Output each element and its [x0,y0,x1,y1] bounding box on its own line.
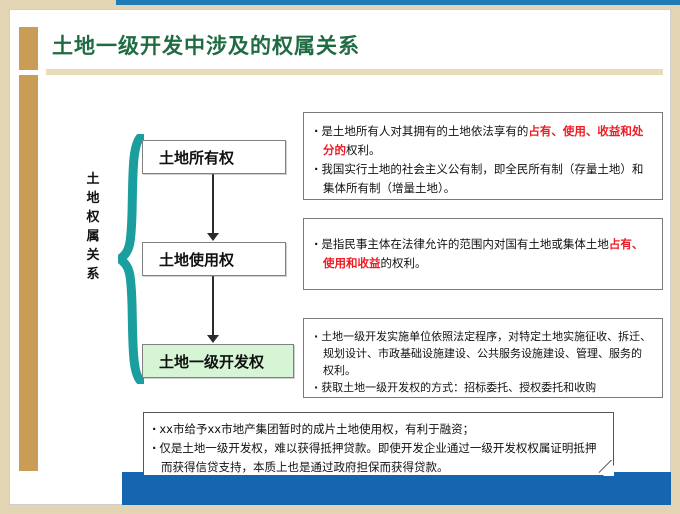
vertical-label-char-2: 权 [82,208,104,227]
body-text: 是指民事主体在法律允许的范围内对国有土地或集体土地 [321,237,609,251]
note-text: 仅是土地一级开发权，难以获得抵押贷款。即使开发企业通过一级开发权权属证明抵押而获… [159,441,596,474]
body-text: 土地一级开发实施单位依照法定程序，对特定土地实施征收、拆迁、规划设计、市政基础设… [321,330,651,377]
body-text: 我国实行土地的社会主义公有制，即全民所有制（存量土地）和集体所有制（增量土地）。 [321,162,643,195]
body-text: 权利。 [346,143,381,157]
description-box-development-right: 土地一级开发实施单位依照法定程序，对特定土地实施征收、拆迁、规划设计、市政基础设… [303,318,663,398]
description-line: 是土地所有人对其拥有的土地依法享有的占有、使用、收益和处分的权利。 [314,122,652,160]
slide-canvas: 土地一级开发中涉及的权属关系 土地权属关系 土地所有权 土地使用权 土地一级开发… [0,0,680,514]
arrow-head-icon-2 [207,335,219,343]
note-text: xx市给予xx市地产集团暂时的成片土地使用权，有利于融资； [159,422,474,436]
title-underline-rule [46,69,663,75]
vertical-category-label: 土地权属关系 [82,170,104,284]
gold-accent-bar-top [19,27,38,70]
vertical-label-char-5: 系 [82,265,104,284]
flow-box-primary-development-right[interactable]: 土地一级开发权 [142,344,294,378]
vertical-label-char-0: 土 [82,170,104,189]
connector-line-1 [212,174,214,234]
description-line: 我国实行土地的社会主义公有制，即全民所有制（存量土地）和集体所有制（增量土地）。 [314,160,652,198]
bottom-note-box: xx市给予xx市地产集团暂时的成片土地使用权，有利于融资；仅是土地一级开发权，难… [143,412,614,476]
body-text: 是土地所有人对其拥有的土地依法享有的 [321,124,528,138]
vertical-label-char-4: 关 [82,246,104,265]
arrow-head-icon-1 [207,233,219,241]
description-line: 是指民事主体在法律允许的范围内对国有土地或集体土地占有、使用和收益的权利。 [314,235,652,273]
gold-accent-bar-body [19,75,38,471]
teal-brace-icon [118,134,144,384]
flow-box-land-ownership[interactable]: 土地所有权 [142,140,286,174]
note-line: 仅是土地一级开发权，难以获得抵押贷款。即使开发企业通过一级开发权权属证明抵押而获… [152,439,605,477]
vertical-label-char-1: 地 [82,189,104,208]
description-box-ownership: 是土地所有人对其拥有的土地依法享有的占有、使用、收益和处分的权利。我国实行土地的… [303,112,663,200]
body-text: 获取土地一级开发权的方式：招标委托、授权委托和收购 [321,381,596,394]
body-text: 的权利。 [381,256,427,270]
vertical-label-char-3: 属 [82,227,104,246]
description-line: 获取土地一级开发权的方式：招标委托、授权委托和收购 [314,379,652,396]
description-line: 土地一级开发实施单位依照法定程序，对特定土地实施征收、拆迁、规划设计、市政基础设… [314,328,652,379]
note-line: xx市给予xx市地产集团暂时的成片土地使用权，有利于融资； [152,420,605,439]
description-box-use-right: 是指民事主体在法律允许的范围内对国有土地或集体土地占有、使用和收益的权利。 [303,218,663,290]
top-blue-strip [116,0,680,5]
page-title: 土地一级开发中涉及的权属关系 [52,30,360,60]
flow-box-land-use-right[interactable]: 土地使用权 [142,242,286,276]
connector-line-2 [212,276,214,336]
corner-fold-line-decoration [598,460,613,475]
